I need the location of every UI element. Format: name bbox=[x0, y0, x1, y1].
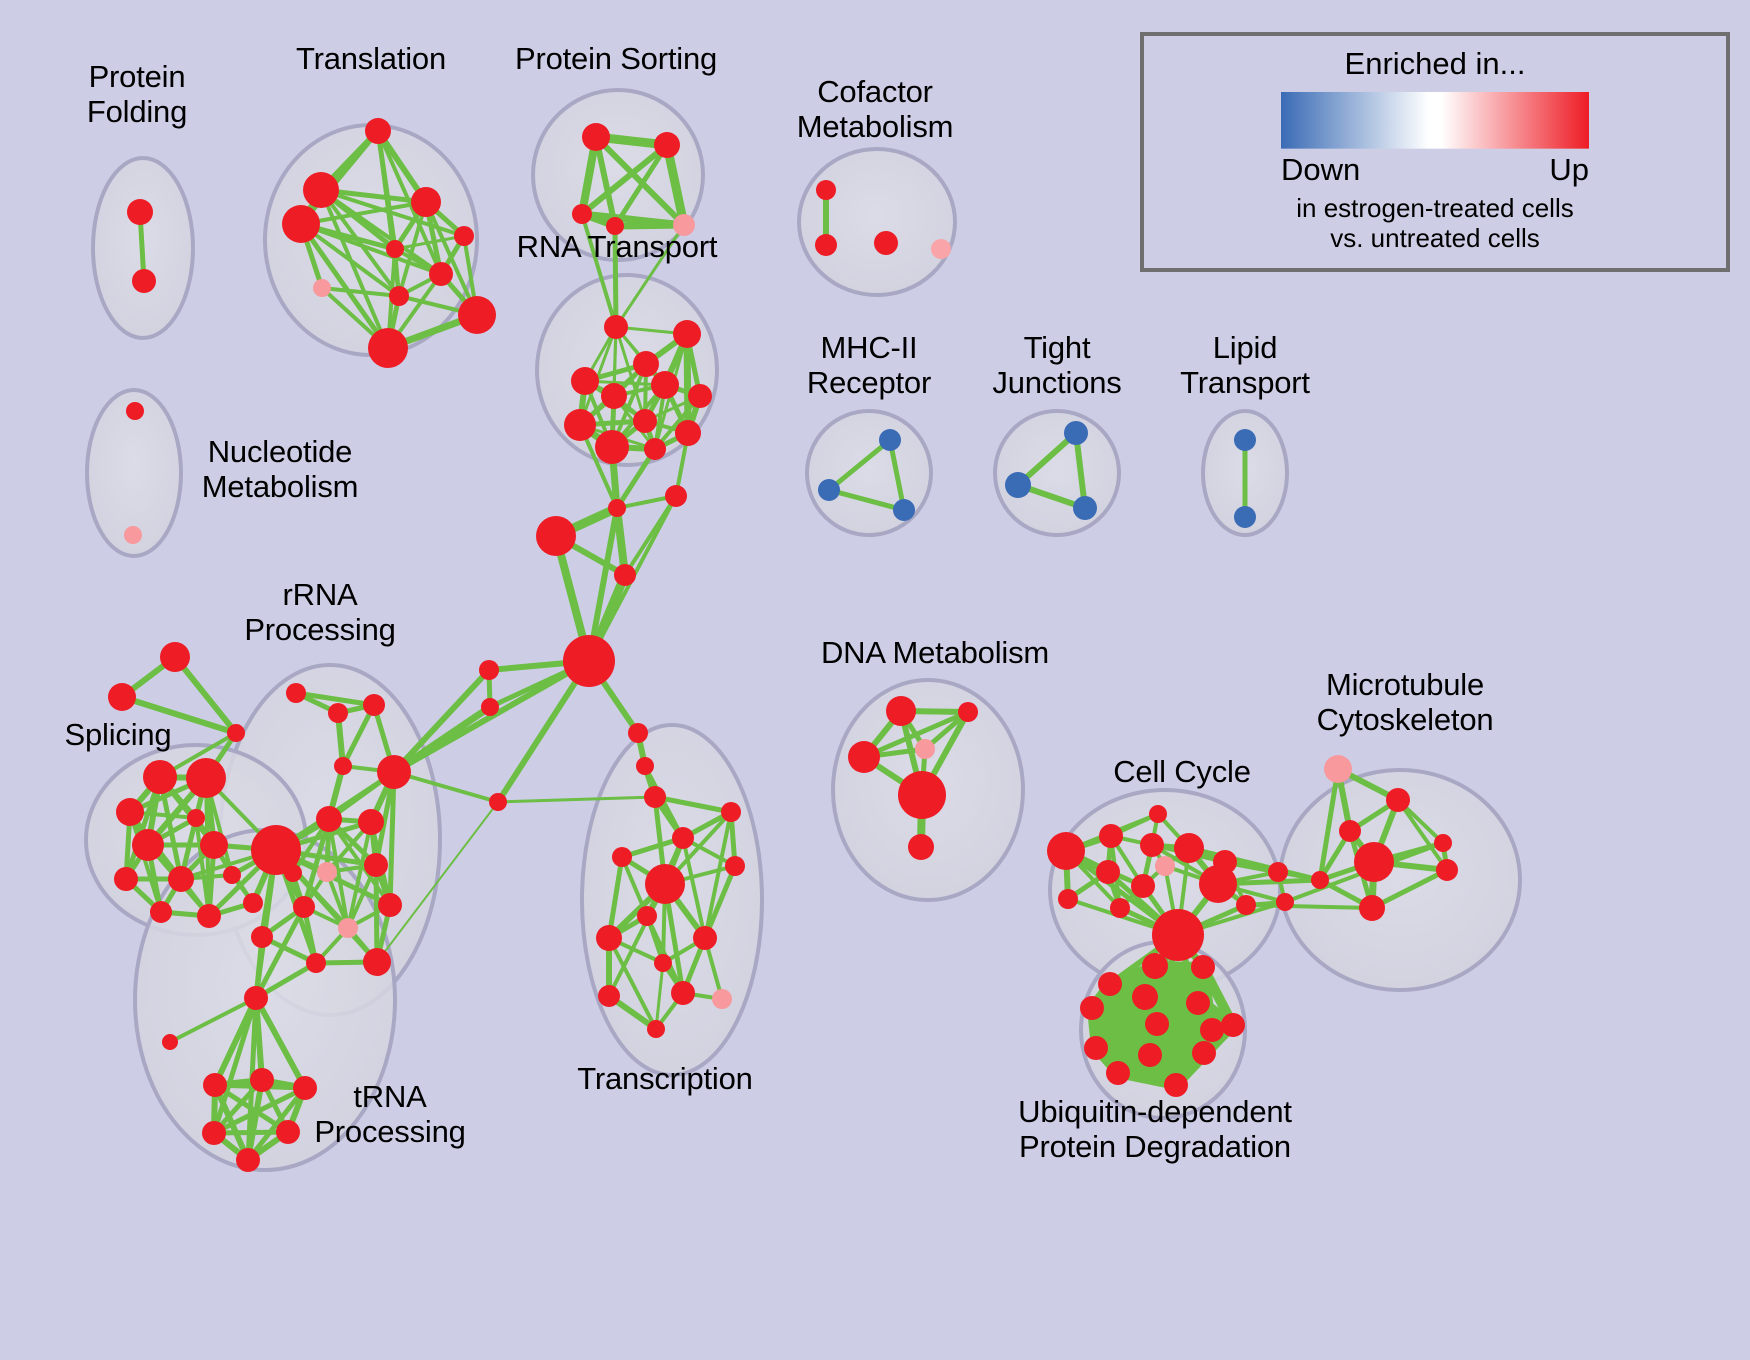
network-edge bbox=[687, 334, 688, 433]
network-node[interactable] bbox=[1200, 1018, 1224, 1042]
cluster-label-line: Cell Cycle bbox=[1113, 755, 1251, 790]
cluster-label-line: Nucleotide bbox=[202, 435, 359, 470]
network-node[interactable] bbox=[363, 694, 385, 716]
network-node[interactable] bbox=[604, 315, 628, 339]
network-node[interactable] bbox=[250, 1068, 274, 1092]
network-node[interactable] bbox=[108, 683, 136, 711]
network-node[interactable] bbox=[454, 226, 474, 246]
network-node[interactable] bbox=[931, 239, 951, 259]
network-node[interactable] bbox=[132, 269, 156, 293]
network-node[interactable] bbox=[1174, 833, 1204, 863]
cluster-label-rrna-processing: rRNAProcessing bbox=[244, 578, 395, 647]
cluster-label-line: Junctions bbox=[992, 366, 1121, 401]
cluster-label-rna-transport: RNA Transport bbox=[517, 230, 718, 265]
network-node[interactable] bbox=[1192, 1041, 1216, 1065]
network-node[interactable] bbox=[1152, 909, 1204, 961]
network-node[interactable] bbox=[150, 901, 172, 923]
cluster-label-translation: Translation bbox=[296, 42, 446, 77]
network-node[interactable] bbox=[596, 925, 622, 951]
cluster-label-line: MHC-II bbox=[807, 331, 931, 366]
network-node[interactable] bbox=[1386, 788, 1410, 812]
cluster-label-line: RNA Transport bbox=[517, 230, 718, 265]
network-node[interactable] bbox=[223, 866, 241, 884]
cluster-label-line: Ubiquitin-dependent bbox=[1018, 1095, 1292, 1130]
network-node[interactable] bbox=[1145, 1012, 1169, 1036]
network-node[interactable] bbox=[386, 240, 404, 258]
network-node[interactable] bbox=[1234, 506, 1256, 528]
network-node[interactable] bbox=[338, 918, 358, 938]
cluster-label-splicing: Splicing bbox=[65, 718, 172, 753]
network-node[interactable] bbox=[1098, 972, 1122, 996]
network-node[interactable] bbox=[143, 760, 177, 794]
network-node[interactable] bbox=[1324, 755, 1352, 783]
network-node[interactable] bbox=[1436, 859, 1458, 881]
legend-high-label: Up bbox=[1549, 152, 1589, 188]
cluster-label-line: Cytoskeleton bbox=[1317, 703, 1494, 738]
network-node[interactable] bbox=[1110, 898, 1130, 918]
network-node[interactable] bbox=[818, 479, 840, 501]
network-node[interactable] bbox=[564, 409, 596, 441]
network-node[interactable] bbox=[665, 485, 687, 507]
network-node[interactable] bbox=[1339, 820, 1361, 842]
network-node[interactable] bbox=[848, 741, 880, 773]
network-node[interactable] bbox=[316, 806, 342, 832]
cluster-label-line: Receptor bbox=[807, 366, 931, 401]
network-node[interactable] bbox=[536, 516, 576, 556]
network-node[interactable] bbox=[1221, 1013, 1245, 1037]
network-node[interactable] bbox=[1106, 1061, 1130, 1085]
network-node[interactable] bbox=[608, 499, 626, 517]
network-node[interactable] bbox=[879, 429, 901, 451]
network-node[interactable] bbox=[671, 981, 695, 1005]
network-node[interactable] bbox=[127, 199, 153, 225]
network-node[interactable] bbox=[633, 409, 657, 433]
network-node[interactable] bbox=[244, 986, 268, 1010]
cluster-label-line: Microtubule bbox=[1317, 668, 1494, 703]
network-node[interactable] bbox=[1084, 1036, 1108, 1060]
network-node[interactable] bbox=[563, 635, 615, 687]
network-node[interactable] bbox=[334, 757, 352, 775]
cluster-label-line: Protein Sorting bbox=[515, 42, 717, 77]
cluster-label-trna-processing: tRNAProcessing bbox=[314, 1080, 465, 1149]
network-node[interactable] bbox=[654, 954, 672, 972]
network-node[interactable] bbox=[628, 723, 648, 743]
network-node[interactable] bbox=[162, 1034, 178, 1050]
network-node[interactable] bbox=[282, 205, 320, 243]
network-node[interactable] bbox=[1191, 955, 1215, 979]
network-node[interactable] bbox=[168, 866, 194, 892]
network-node[interactable] bbox=[364, 853, 388, 877]
network-node[interactable] bbox=[1276, 893, 1294, 911]
cluster-label-tight-junctions: TightJunctions bbox=[992, 331, 1121, 400]
network-node[interactable] bbox=[481, 698, 499, 716]
cluster-hull-cofactor-metabolism bbox=[799, 149, 955, 295]
network-node[interactable] bbox=[647, 1020, 665, 1038]
network-node[interactable] bbox=[595, 430, 629, 464]
network-node[interactable] bbox=[645, 864, 685, 904]
network-node[interactable] bbox=[644, 786, 666, 808]
network-node[interactable] bbox=[132, 829, 164, 861]
network-node[interactable] bbox=[1132, 984, 1158, 1010]
network-node[interactable] bbox=[286, 683, 306, 703]
network-node[interactable] bbox=[571, 367, 599, 395]
network-node[interactable] bbox=[815, 234, 837, 256]
network-node[interactable] bbox=[958, 702, 978, 722]
network-node[interactable] bbox=[1199, 865, 1237, 903]
cluster-label-protein-folding: ProteinFolding bbox=[87, 60, 187, 129]
network-node[interactable] bbox=[1047, 832, 1085, 870]
network-node[interactable] bbox=[203, 1073, 227, 1097]
network-node[interactable] bbox=[721, 802, 741, 822]
legend-subtitle: in estrogen-treated cells vs. untreated … bbox=[1296, 193, 1573, 254]
network-node[interactable] bbox=[693, 926, 717, 950]
cluster-label-line: Folding bbox=[87, 95, 187, 130]
cluster-label-line: Splicing bbox=[65, 718, 172, 753]
network-node[interactable] bbox=[893, 499, 915, 521]
cluster-label-line: Processing bbox=[314, 1115, 465, 1150]
network-node[interactable] bbox=[637, 906, 657, 926]
network-node[interactable] bbox=[303, 172, 339, 208]
network-node[interactable] bbox=[636, 757, 654, 775]
network-node[interactable] bbox=[874, 231, 898, 255]
network-node[interactable] bbox=[200, 831, 228, 859]
network-node[interactable] bbox=[458, 296, 496, 334]
network-node[interactable] bbox=[389, 286, 409, 306]
network-node[interactable] bbox=[1140, 833, 1164, 857]
network-node[interactable] bbox=[582, 123, 610, 151]
network-node[interactable] bbox=[1268, 862, 1288, 882]
network-node[interactable] bbox=[675, 420, 701, 446]
network-node[interactable] bbox=[816, 180, 836, 200]
legend-end-labels: Down Up bbox=[1281, 152, 1589, 188]
legend-low-label: Down bbox=[1281, 152, 1360, 188]
network-node[interactable] bbox=[1099, 824, 1123, 848]
network-node[interactable] bbox=[197, 904, 221, 928]
cluster-label-line: Tight bbox=[992, 331, 1121, 366]
network-node[interactable] bbox=[598, 985, 620, 1007]
legend-title: Enriched in... bbox=[1345, 46, 1526, 82]
network-node[interactable] bbox=[1186, 991, 1210, 1015]
network-node[interactable] bbox=[1354, 842, 1394, 882]
cluster-label-cofactor-metabolism: CofactorMetabolism bbox=[797, 75, 954, 144]
cluster-label-line: Cofactor bbox=[797, 75, 954, 110]
cluster-label-cell-cycle: Cell Cycle bbox=[1113, 755, 1251, 790]
network-node[interactable] bbox=[1234, 429, 1256, 451]
network-node[interactable] bbox=[1149, 805, 1167, 823]
cluster-label-line: Lipid bbox=[1180, 331, 1310, 366]
cluster-label-line: DNA Metabolism bbox=[821, 636, 1049, 671]
network-node[interactable] bbox=[672, 827, 694, 849]
network-node[interactable] bbox=[160, 642, 190, 672]
network-node[interactable] bbox=[633, 351, 659, 377]
network-node[interactable] bbox=[1131, 874, 1155, 898]
cluster-label-line: rRNA bbox=[244, 578, 395, 613]
network-node[interactable] bbox=[898, 771, 946, 819]
network-node[interactable] bbox=[651, 371, 679, 399]
network-node[interactable] bbox=[276, 1120, 300, 1144]
cluster-label-protein-sorting: Protein Sorting bbox=[515, 42, 717, 77]
network-node[interactable] bbox=[479, 660, 499, 680]
cluster-label-line: Metabolism bbox=[202, 470, 359, 505]
network-node[interactable] bbox=[712, 989, 732, 1009]
network-node[interactable] bbox=[1096, 860, 1120, 884]
network-node[interactable] bbox=[1359, 895, 1385, 921]
cluster-label-lipid-transport: LipidTransport bbox=[1180, 331, 1310, 400]
network-node[interactable] bbox=[363, 948, 391, 976]
network-node[interactable] bbox=[1064, 421, 1088, 445]
network-node[interactable] bbox=[654, 132, 680, 158]
network-node[interactable] bbox=[293, 896, 315, 918]
network-node[interactable] bbox=[915, 739, 935, 759]
network-node[interactable] bbox=[1311, 871, 1329, 889]
network-node[interactable] bbox=[886, 696, 916, 726]
network-node[interactable] bbox=[202, 1121, 226, 1145]
network-node[interactable] bbox=[725, 856, 745, 876]
network-node[interactable] bbox=[377, 755, 411, 789]
network-node[interactable] bbox=[358, 809, 384, 835]
cluster-label-line: Translation bbox=[296, 42, 446, 77]
network-node[interactable] bbox=[429, 262, 453, 286]
network-node[interactable] bbox=[1058, 889, 1078, 909]
cluster-label-line: Protein bbox=[87, 60, 187, 95]
legend-subtitle-line2: vs. untreated cells bbox=[1296, 223, 1573, 254]
cluster-label-line: Transcription bbox=[577, 1062, 752, 1097]
legend-color-bar bbox=[1281, 92, 1589, 149]
network-node[interactable] bbox=[317, 862, 337, 882]
network-node[interactable] bbox=[673, 320, 701, 348]
network-node[interactable] bbox=[251, 825, 301, 875]
network-node[interactable] bbox=[114, 867, 138, 891]
cluster-label-line: tRNA bbox=[314, 1080, 465, 1115]
network-node[interactable] bbox=[1073, 496, 1097, 520]
cluster-label-line: Processing bbox=[244, 613, 395, 648]
cluster-label-line: Metabolism bbox=[797, 110, 954, 145]
network-node[interactable] bbox=[187, 809, 205, 827]
network-node[interactable] bbox=[612, 847, 632, 867]
legend-subtitle-line1: in estrogen-treated cells bbox=[1296, 193, 1573, 224]
network-node[interactable] bbox=[243, 893, 263, 913]
network-node[interactable] bbox=[126, 402, 144, 420]
network-node[interactable] bbox=[1005, 472, 1031, 498]
cluster-label-dna-metabolism: DNA Metabolism bbox=[821, 636, 1049, 671]
cluster-label-nucleotide-metabolism: NucleotideMetabolism bbox=[202, 435, 359, 504]
network-node[interactable] bbox=[116, 798, 144, 826]
network-node[interactable] bbox=[313, 279, 331, 297]
cluster-label-microtubule-cytoskeleton: MicrotubuleCytoskeleton bbox=[1317, 668, 1494, 737]
cluster-label-mhc-ii-receptor: MHC-IIReceptor bbox=[807, 331, 931, 400]
network-diagram-canvas: ProteinFoldingTranslationProtein Sorting… bbox=[0, 0, 1750, 1360]
network-node[interactable] bbox=[186, 758, 226, 798]
network-node[interactable] bbox=[251, 926, 273, 948]
cluster-label-transcription: Transcription bbox=[577, 1062, 752, 1097]
network-node[interactable] bbox=[365, 118, 391, 144]
network-node[interactable] bbox=[1434, 834, 1452, 852]
network-node[interactable] bbox=[378, 893, 402, 917]
network-node[interactable] bbox=[614, 564, 636, 586]
network-node[interactable] bbox=[1080, 996, 1104, 1020]
cluster-label-line: Transport bbox=[1180, 366, 1310, 401]
network-node[interactable] bbox=[688, 384, 712, 408]
network-node[interactable] bbox=[368, 328, 408, 368]
network-node[interactable] bbox=[1142, 953, 1168, 979]
network-node[interactable] bbox=[124, 526, 142, 544]
network-node[interactable] bbox=[644, 438, 666, 460]
network-node[interactable] bbox=[227, 724, 245, 742]
network-node[interactable] bbox=[1138, 1043, 1162, 1067]
network-node[interactable] bbox=[601, 383, 627, 409]
network-node[interactable] bbox=[489, 793, 507, 811]
network-node[interactable] bbox=[1236, 895, 1256, 915]
network-node[interactable] bbox=[328, 703, 348, 723]
network-node[interactable] bbox=[572, 204, 592, 224]
network-node[interactable] bbox=[1155, 856, 1175, 876]
cluster-label-line: Protein Degradation bbox=[1018, 1130, 1292, 1165]
network-node[interactable] bbox=[411, 187, 441, 217]
network-node[interactable] bbox=[236, 1148, 260, 1172]
network-node[interactable] bbox=[306, 953, 326, 973]
legend-panel: Enriched in... Down Up in estrogen-treat… bbox=[1140, 32, 1730, 272]
network-node[interactable] bbox=[908, 834, 934, 860]
cluster-label-ubiquitin-protein-degradation: Ubiquitin-dependentProtein Degradation bbox=[1018, 1095, 1292, 1164]
